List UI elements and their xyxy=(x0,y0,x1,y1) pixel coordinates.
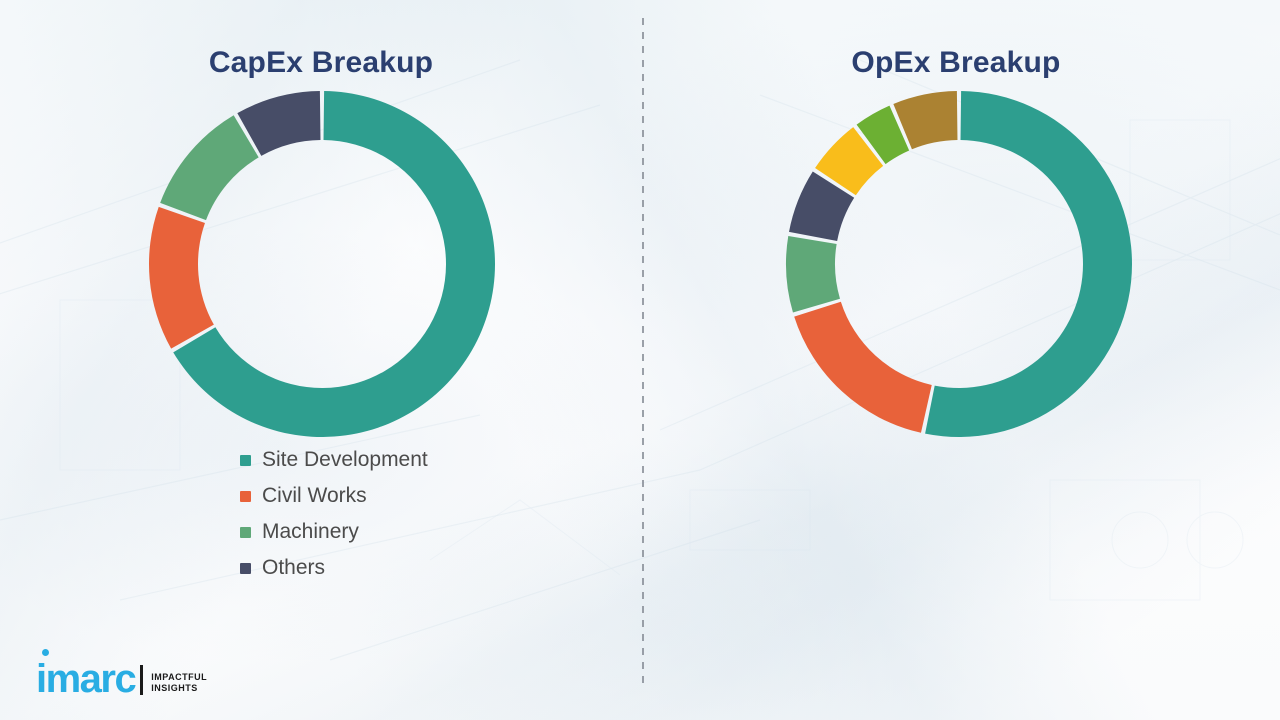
legend-item-label: Site Development xyxy=(262,448,428,472)
donut-segment[interactable] xyxy=(925,91,1132,437)
legend-item[interactable]: Civil Works xyxy=(240,484,428,508)
legend-item[interactable]: Others xyxy=(240,556,428,580)
opex-donut-svg xyxy=(783,88,1135,440)
donut-segment[interactable] xyxy=(786,236,840,313)
capex-chart-title: CapEx Breakup xyxy=(1,46,641,80)
legend-item-label: Others xyxy=(262,556,325,580)
legend-item[interactable]: Machinery xyxy=(240,520,428,544)
capex-legend: Site DevelopmentCivil WorksMachineryOthe… xyxy=(240,448,428,580)
tagline-line-1: IMPACTFUL xyxy=(151,672,207,683)
legend-swatch-icon xyxy=(240,527,251,538)
opex-chart-title: OpEx Breakup xyxy=(636,46,1276,80)
legend-swatch-icon xyxy=(240,563,251,574)
donut-segment[interactable] xyxy=(160,115,259,220)
imarc-tagline: IMPACTFUL INSIGHTS xyxy=(151,672,207,695)
legend-swatch-icon xyxy=(240,455,251,466)
capex-panel: CapEx Breakup Site DevelopmentCivil Work… xyxy=(0,0,640,720)
capex-donut-chart xyxy=(146,88,498,440)
donut-segment[interactable] xyxy=(149,207,214,349)
legend-item-label: Civil Works xyxy=(262,484,367,508)
legend-swatch-icon xyxy=(240,491,251,502)
opex-panel: OpEx Breakup Raw MaterialsSalaries and W… xyxy=(640,0,1280,720)
imarc-wordmark: imarc xyxy=(36,661,135,698)
imarc-wordmark-text: imarc xyxy=(36,657,135,701)
legend-item-label: Machinery xyxy=(262,520,359,544)
capex-donut-svg xyxy=(146,88,498,440)
logo-divider-bar xyxy=(140,665,143,695)
tagline-line-2: INSIGHTS xyxy=(151,683,207,694)
donut-segment[interactable] xyxy=(794,302,932,433)
imarc-logo: imarc IMPACTFUL INSIGHTS xyxy=(36,661,207,698)
opex-donut-chart xyxy=(783,88,1135,440)
legend-item[interactable]: Site Development xyxy=(240,448,428,472)
slide-canvas: CapEx Breakup Site DevelopmentCivil Work… xyxy=(0,0,1280,720)
